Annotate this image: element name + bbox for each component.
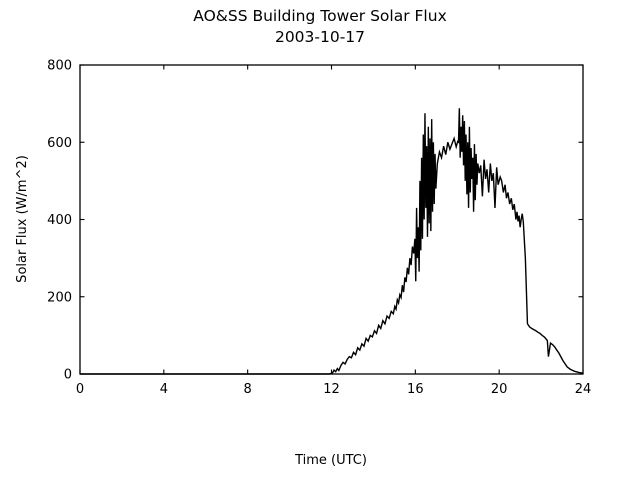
solar-flux-line <box>80 108 583 374</box>
x-tick-label: 20 <box>491 382 508 397</box>
x-axis-ticks: 04812162024 <box>76 65 591 397</box>
x-tick-label: 0 <box>76 382 84 397</box>
y-axis-ticks: 0200400600800 <box>47 59 583 383</box>
series-group <box>80 108 583 374</box>
y-tick-label: 0 <box>64 368 72 383</box>
figure-canvas: AO&SS Building Tower Solar Flux 2003-10-… <box>0 0 640 480</box>
x-tick-label: 16 <box>407 382 424 397</box>
x-axis-title: Time (UTC) <box>294 453 367 468</box>
x-tick-label: 12 <box>323 382 340 397</box>
x-tick-label: 24 <box>575 382 592 397</box>
y-tick-label: 200 <box>47 290 72 305</box>
plot-frame-border <box>80 65 583 374</box>
axes-frame <box>80 65 583 374</box>
y-tick-label: 400 <box>47 213 72 228</box>
plot-area: 04812162024 0200400600800 Time (UTC) Sol… <box>0 0 640 480</box>
x-tick-label: 8 <box>244 382 252 397</box>
y-tick-label: 600 <box>47 136 72 151</box>
y-axis-title: Solar Flux (W/m^2) <box>15 155 30 283</box>
y-tick-label: 800 <box>47 59 72 74</box>
x-tick-label: 4 <box>160 382 168 397</box>
